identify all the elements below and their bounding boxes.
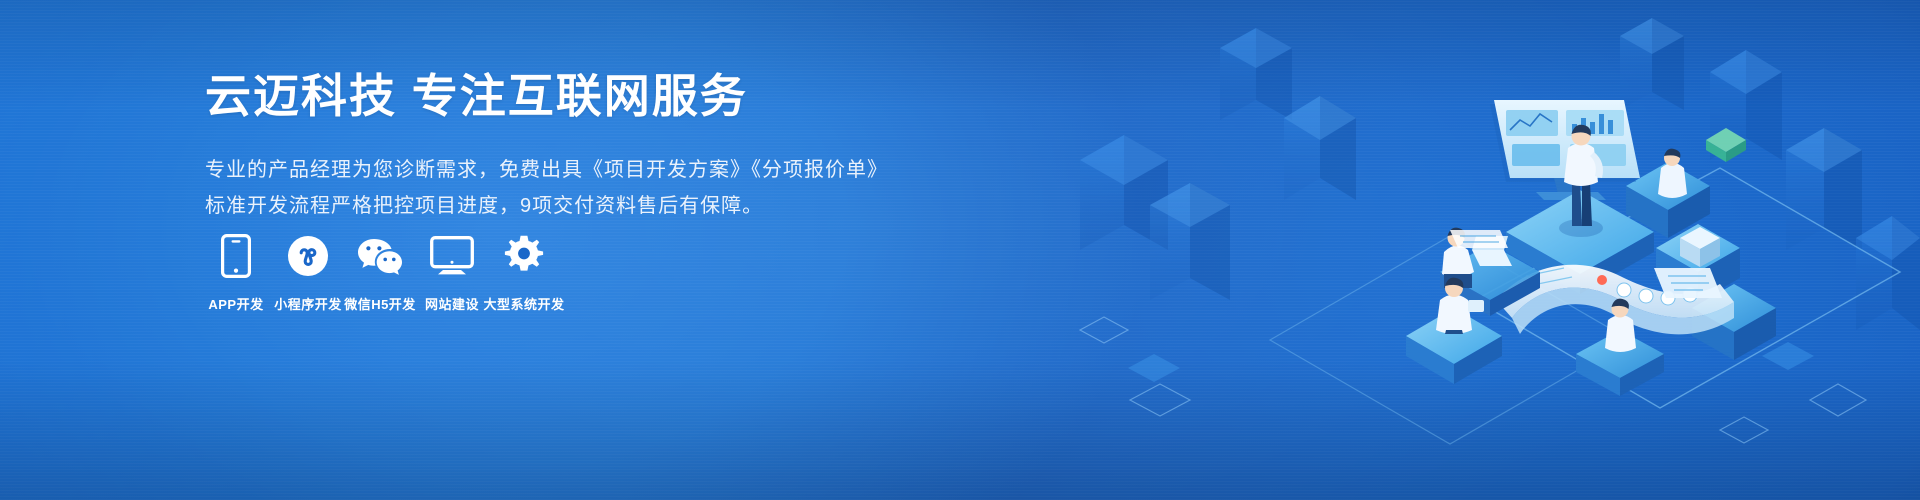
service-item-mini-program[interactable]: 小程序开发 bbox=[272, 232, 344, 313]
hero-banner: 云迈科技 专注互联网服务 专业的产品经理为您诊断需求，免费出具《项目开发方案》《… bbox=[0, 0, 1920, 500]
service-label: 小程序开发 bbox=[274, 294, 342, 313]
service-item-large-system[interactable]: 大型系统开发 bbox=[488, 232, 560, 313]
service-label: 网站建设 bbox=[425, 294, 479, 313]
subtitle-line-1: 专业的产品经理为您诊断需求，免费出具《项目开发方案》《分项报价单》 bbox=[205, 152, 905, 188]
mini-program-icon bbox=[287, 232, 329, 280]
banner-content: 云迈科技 专注互联网服务 专业的产品经理为您诊断需求，免费出具《项目开发方案》《… bbox=[205, 68, 905, 224]
monitor-icon bbox=[430, 232, 474, 280]
gear-icon bbox=[503, 232, 545, 280]
service-item-app[interactable]: APP开发 bbox=[200, 232, 272, 313]
service-item-website[interactable]: 网站建设 bbox=[416, 232, 488, 313]
service-label: APP开发 bbox=[208, 294, 263, 313]
service-label: 大型系统开发 bbox=[484, 294, 565, 313]
isometric-illustration bbox=[1020, 0, 1920, 500]
service-label: 微信H5开发 bbox=[344, 294, 416, 313]
person-right-pedestal bbox=[1658, 149, 1687, 198]
banner-subtitle: 专业的产品经理为您诊断需求，免费出具《项目开发方案》《分项报价单》 标准开发流程… bbox=[205, 152, 905, 225]
wechat-icon bbox=[357, 232, 403, 280]
page-title: 云迈科技 专注互联网服务 bbox=[205, 68, 905, 126]
service-list: APP开发 小程序开发 bbox=[200, 232, 560, 313]
service-item-wechat-h5[interactable]: 微信H5开发 bbox=[344, 232, 416, 313]
mobile-phone-icon bbox=[221, 232, 251, 280]
subtitle-line-2: 标准开发流程严格把控项目进度，9项交付资料售后有保障。 bbox=[205, 188, 905, 224]
